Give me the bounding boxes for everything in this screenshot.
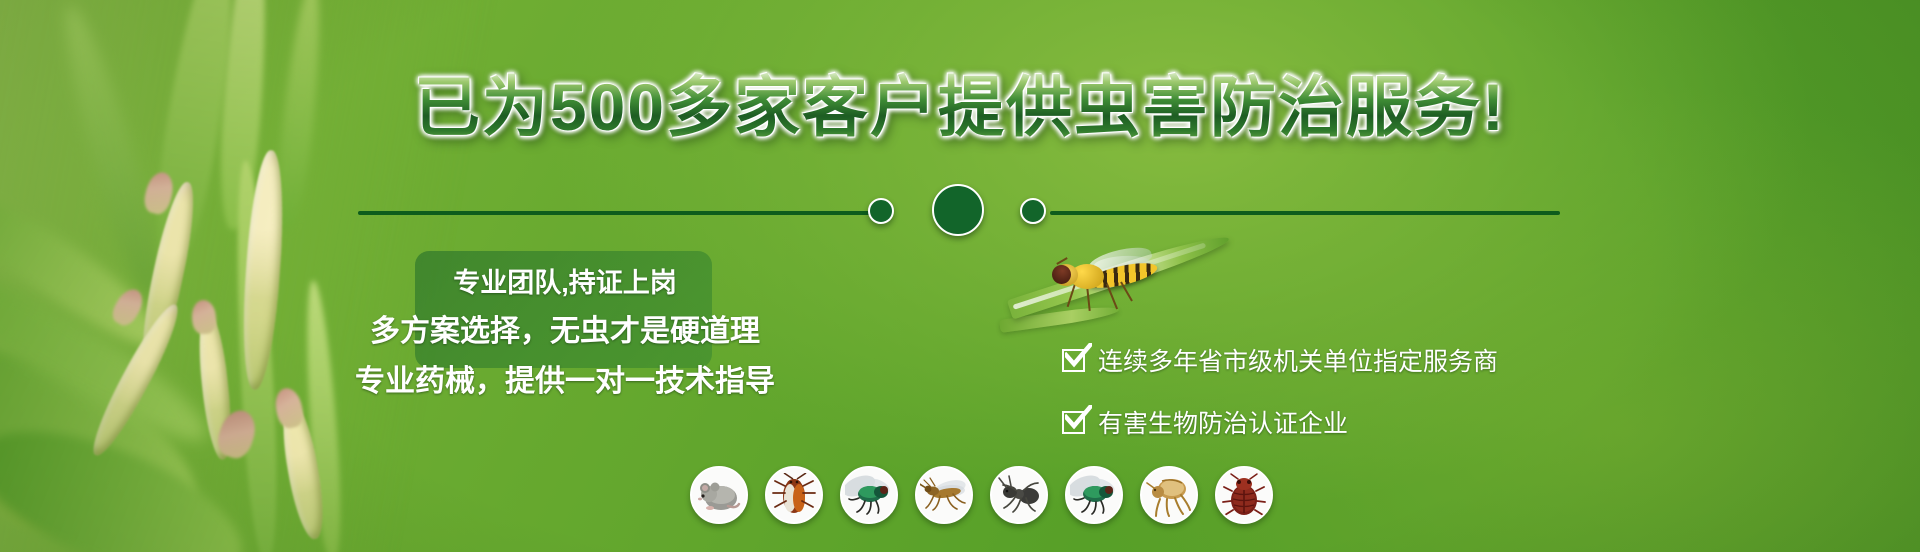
check-box-icon [1062,347,1089,374]
mouse-icon[interactable] [690,466,748,524]
pest-type-list [690,466,1273,524]
feature-line-2: 多方案选择，无虫才是硬道理 [330,297,800,347]
bedbug-icon[interactable] [1215,466,1273,524]
cockroach-icon[interactable] [765,466,823,524]
banner-headline-text: 已为500多家客户提供虫害防治服务! [414,70,1506,144]
feature-panel-text: 专业团队,持证上岗 多方案选择，无虫才是硬道理 专业药械，提供一对一技术指导 [330,258,800,397]
flea-icon[interactable] [1140,466,1198,524]
credential-label: 连续多年省市级机关单位指定服务商 [1098,342,1498,378]
mosquito-icon[interactable] [915,466,973,524]
check-box-icon [1062,409,1089,436]
ant-icon[interactable] [990,466,1048,524]
feature-line-1: 专业团队,持证上岗 [330,258,800,297]
divider-line-right [1050,211,1560,215]
decorative-dot-large-center [932,184,984,236]
hoverfly-icon [1048,252,1168,310]
credential-label: 有害生物防治认证企业 [1098,404,1348,440]
pest-control-banner: 已为500多家客户提供虫害防治服务! 专业团队,持证上岗 多方案选择，无虫才是硬… [0,0,1920,552]
credentials-list: 连续多年省市级机关单位指定服务商 有害生物防治认证企业 [1062,336,1498,446]
divider-line-left [358,211,870,215]
banner-headline: 已为500多家客户提供虫害防治服务! [0,74,1920,140]
decorative-dot-small-right [1020,198,1046,224]
list-item: 连续多年省市级机关单位指定服务商 [1062,336,1498,384]
blowfly-icon[interactable] [1065,466,1123,524]
decorative-dot-small-left [868,198,894,224]
fly-icon[interactable] [840,466,898,524]
feature-line-3: 专业药械，提供一对一技术指导 [330,347,800,397]
list-item: 有害生物防治认证企业 [1062,398,1498,446]
